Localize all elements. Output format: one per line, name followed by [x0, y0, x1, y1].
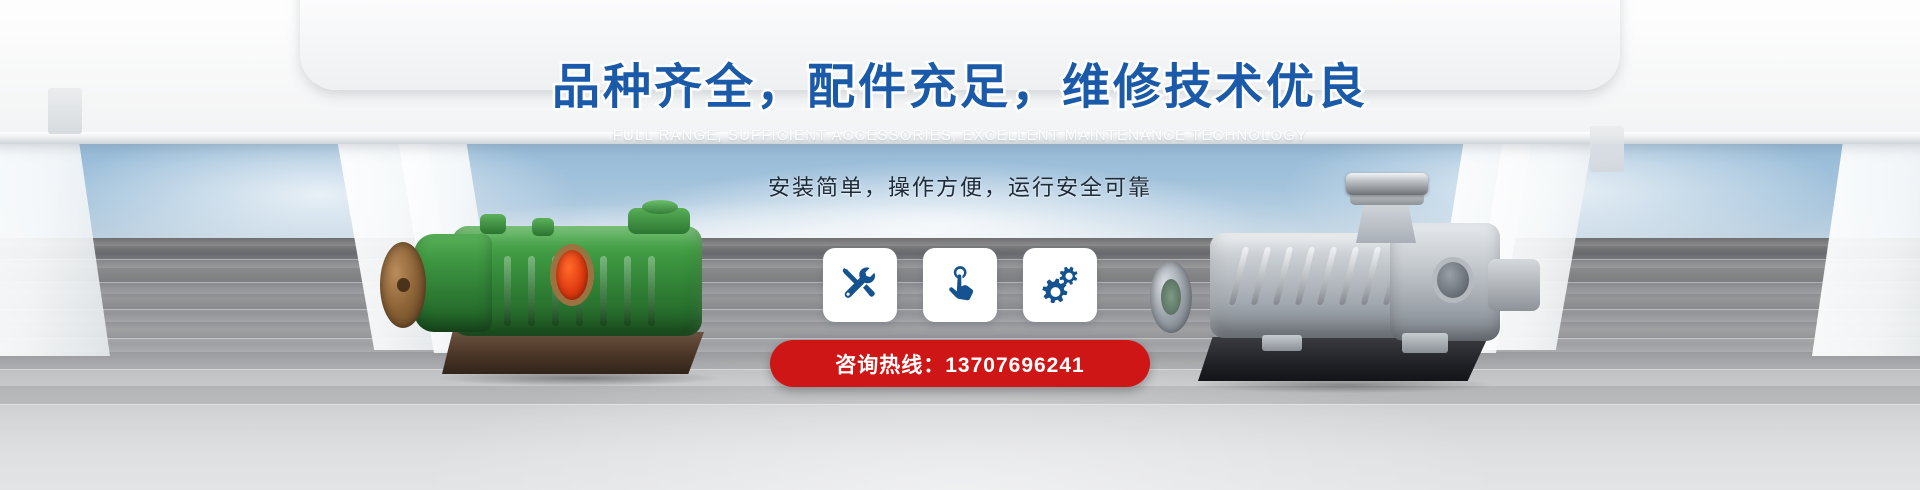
hand-tap-icon: [940, 263, 980, 308]
gears-icon: [1040, 263, 1080, 308]
feature-item-easy-operation[interactable]: [923, 248, 997, 322]
banner-copy: 品种齐全，配件充足，维修技术优良 FULL RANGE, SUFFICIENT …: [0, 60, 1920, 202]
hotline-label: 咨询热线：13707696241: [835, 349, 1084, 379]
feature-item-reliable-running[interactable]: [1023, 248, 1097, 322]
tools-icon: [840, 263, 880, 308]
pump-nub: [480, 214, 506, 234]
feature-item-maintenance[interactable]: [823, 248, 897, 322]
pump-base: [442, 332, 704, 374]
pump-foot: [1262, 335, 1302, 351]
banner-headline: 品种齐全，配件充足，维修技术优良: [0, 60, 1920, 117]
banner-subline-chinese: 安装简单，操作方便，运行安全可靠: [0, 170, 1920, 202]
pump-nub: [532, 218, 554, 236]
feature-icon-row: [0, 248, 1920, 322]
banner-subline-english: FULL RANGE, SUFFICIENT ACCESSORIES, EXCE…: [0, 127, 1920, 144]
pump-foot: [1402, 333, 1448, 353]
pump-discharge-cap: [642, 200, 678, 214]
promo-banner: 品种齐全，配件充足，维修技术优良 FULL RANGE, SUFFICIENT …: [0, 0, 1920, 490]
hotline-banner[interactable]: 咨询热线：13707696241: [770, 340, 1150, 387]
